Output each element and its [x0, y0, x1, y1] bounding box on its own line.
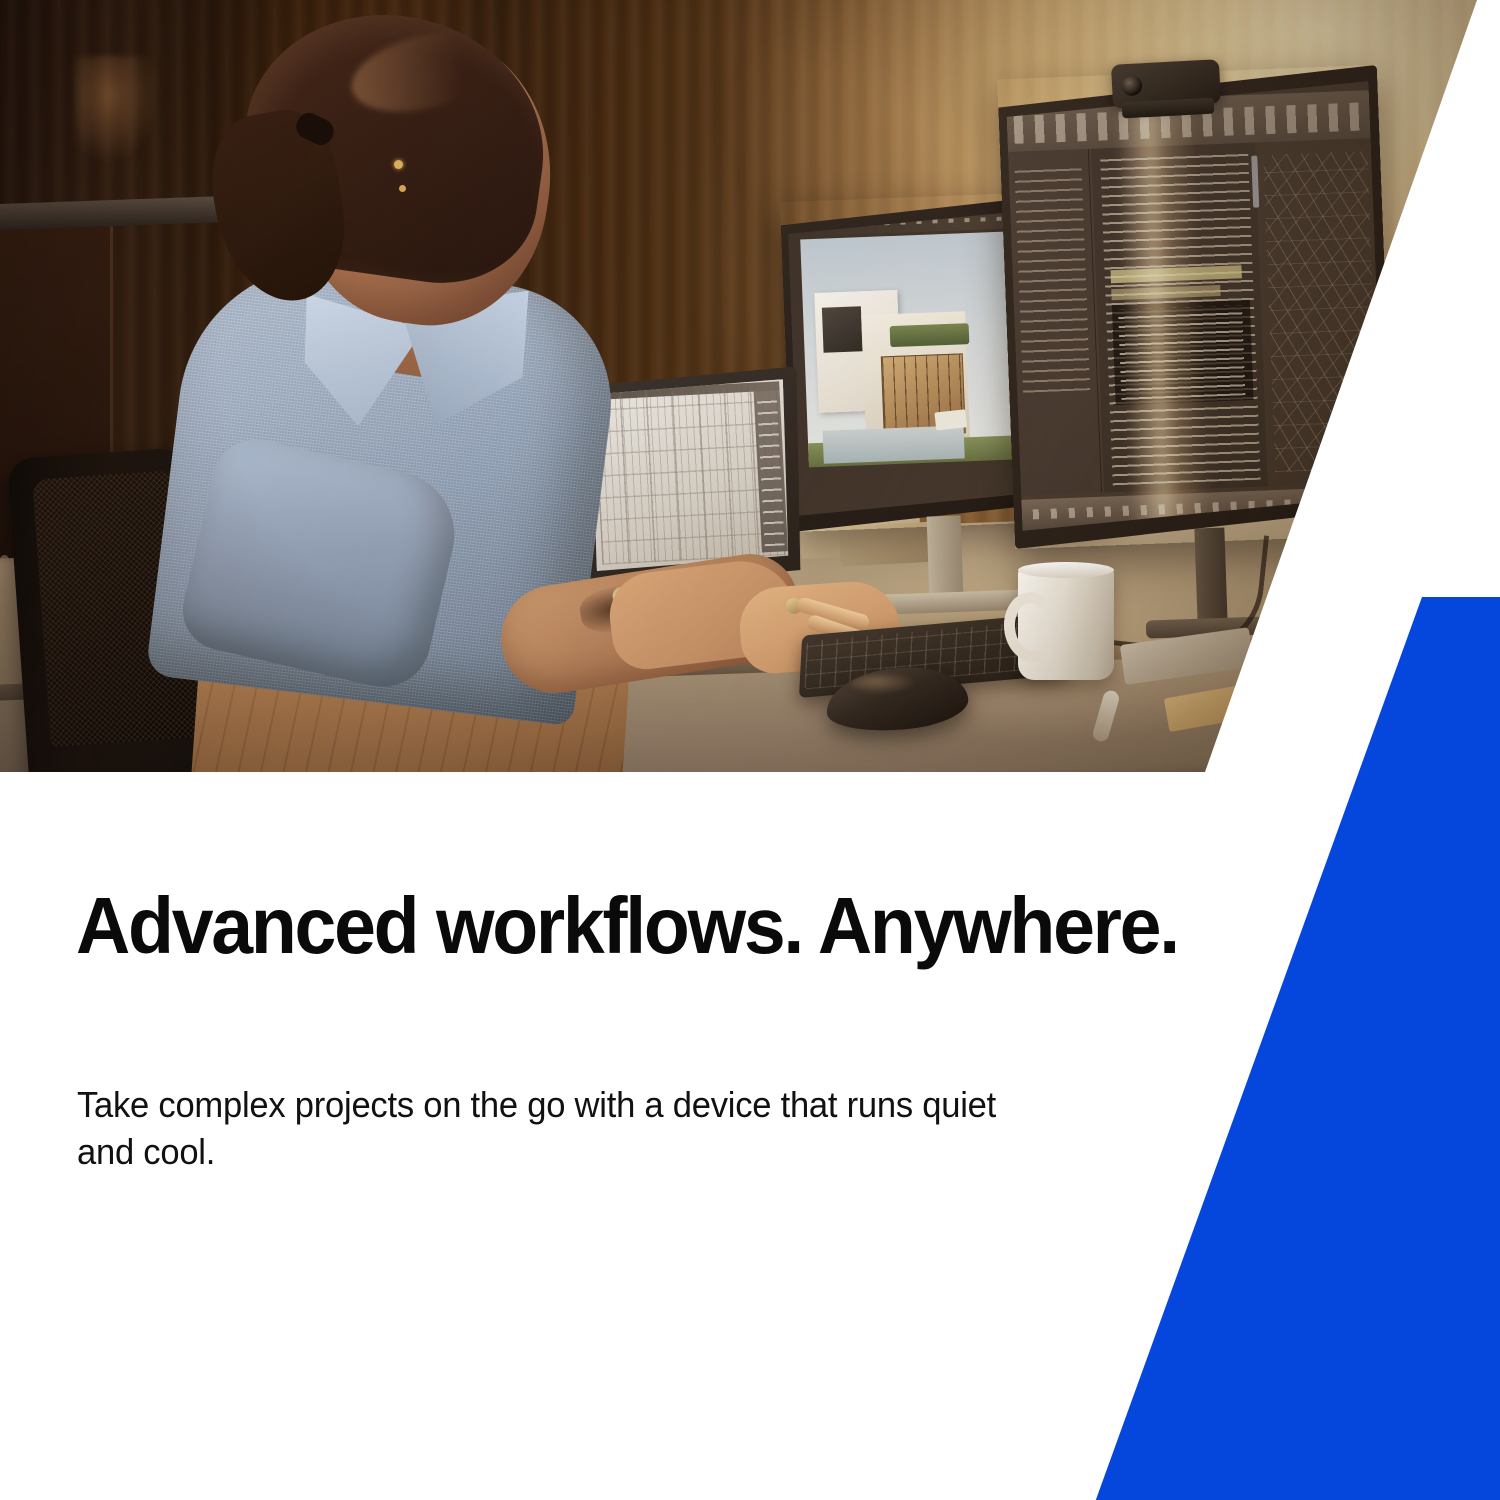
- marketing-card: Advanced workflows. Anywhere. Take compl…: [0, 0, 1500, 1500]
- body-copy: Take complex projects on the go with a d…: [77, 1082, 1037, 1176]
- page-title: Advanced workflows. Anywhere.: [76, 886, 1178, 966]
